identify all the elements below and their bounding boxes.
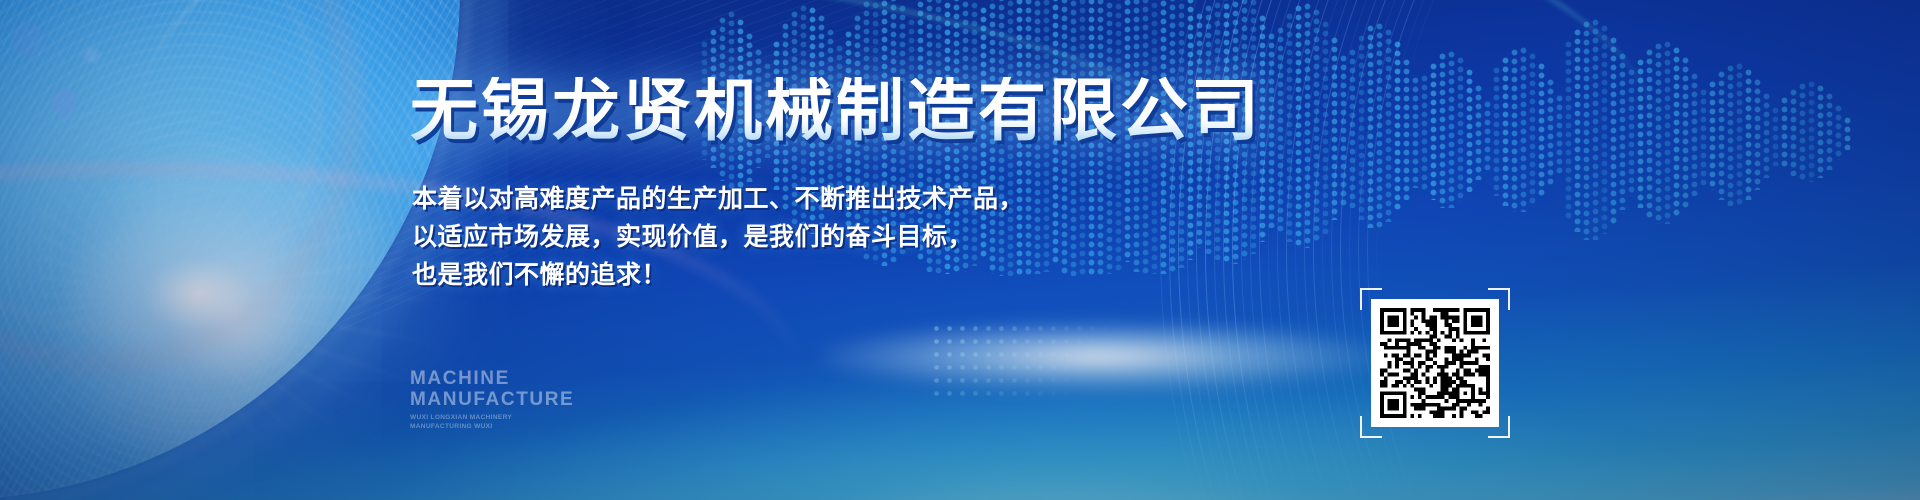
company-banner: 无锡龙贤机械制造有限公司 本着以对高难度产品的生产加工、不断推出技术产品， 以适… (0, 0, 1920, 500)
slogan-line-3: 也是我们不懈的追求！ (412, 256, 1024, 294)
slogan-line-1: 本着以对高难度产品的生产加工、不断推出技术产品， (412, 180, 1024, 218)
watermark-line-3: WUXI LONGXIAN MACHINERY MANUFACTURING WU… (410, 414, 530, 431)
qr-code-image[interactable] (1380, 308, 1490, 418)
company-slogan: 本着以对高难度产品的生产加工、不断推出技术产品， 以适应市场发展，实现价值，是我… (412, 180, 1024, 294)
watermark-block: MACHINE MANUFACTURE WUXI LONGXIAN MACHIN… (410, 368, 574, 431)
slogan-line-2: 以适应市场发展，实现价值，是我们的奋斗目标， (412, 218, 1024, 256)
watermark-line-2: MANUFACTURE (410, 389, 574, 410)
qr-code-card[interactable] (1371, 299, 1499, 427)
content-layer: 无锡龙贤机械制造有限公司 本着以对高难度产品的生产加工、不断推出技术产品， 以适… (0, 0, 1920, 500)
watermark-line-1: MACHINE (410, 368, 574, 389)
qr-code-block[interactable] (1360, 288, 1510, 438)
company-headline: 无锡龙贤机械制造有限公司 (410, 77, 1262, 145)
